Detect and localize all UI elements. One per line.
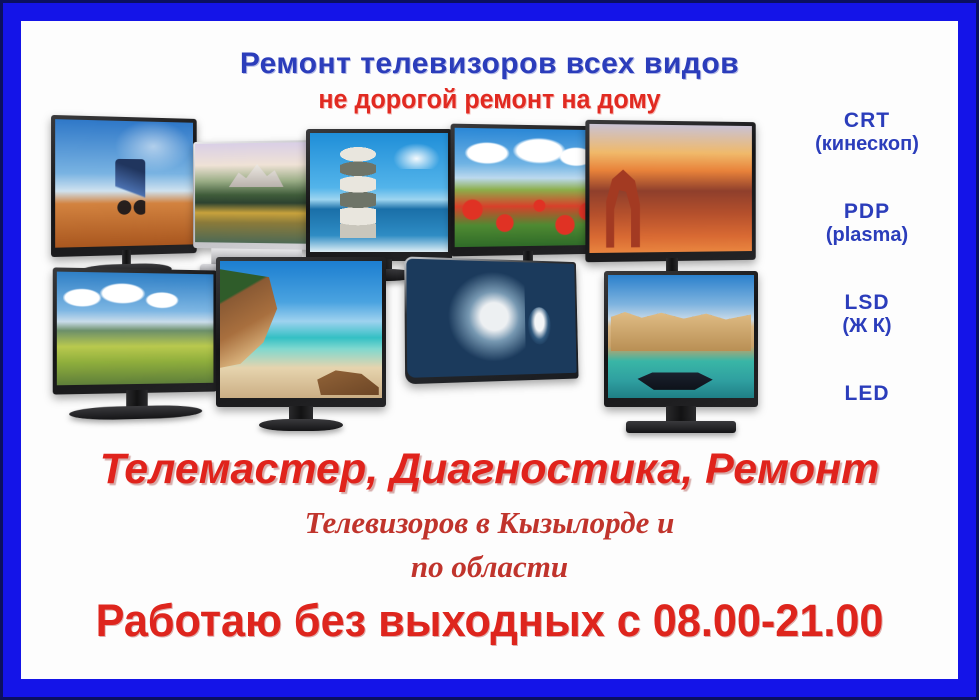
tv-field-stand	[69, 389, 202, 421]
working-hours: Работаю без выходных с 08.00-21.00	[40, 595, 940, 647]
technology-abbr-lsd: LSD	[782, 291, 952, 315]
tv-poppy-bezel	[451, 124, 603, 257]
technology-abbr-pdp: PDP	[782, 200, 952, 224]
technology-item-crt: CRT (кинескоп)	[782, 109, 952, 156]
tv-venice-stand	[626, 406, 736, 433]
technology-list: CRT (кинескоп) PDP (plasma) LSD (Ж К) LE…	[782, 109, 952, 451]
technology-note-crt: (кинескоп)	[782, 133, 952, 156]
tv-stones-bezel	[306, 129, 452, 261]
technology-abbr-led: LED	[782, 382, 952, 406]
service-area-line-1: Телевизоров в Кызылорде и	[21, 505, 958, 541]
tv-stones	[306, 129, 452, 261]
tv-poppy-screen	[455, 128, 599, 247]
tv-poppy	[451, 124, 603, 257]
tv-cyclist-bezel	[51, 115, 197, 257]
technology-item-led: LED	[782, 382, 952, 406]
tv-venice-bezel	[604, 271, 758, 407]
tv-beach	[216, 257, 386, 407]
tv-cyclist-screen	[55, 119, 193, 248]
services-headline: Телемастер, Диагностика, Ремонт	[21, 445, 958, 494]
tv-venice	[604, 271, 758, 407]
tv-wave-bezel	[404, 256, 578, 384]
tv-field	[53, 267, 217, 394]
technology-item-lsd: LSD (Ж К)	[782, 291, 952, 338]
technology-note-lsd: (Ж К)	[782, 315, 952, 338]
tv-mountain	[193, 140, 321, 250]
tv-arch-screen	[589, 124, 751, 253]
technology-note-pdp: (plasma)	[782, 224, 952, 247]
tv-arch	[585, 120, 755, 262]
tv-beach-stand	[259, 406, 343, 431]
tv-mountain-bezel	[193, 140, 321, 250]
service-area-line-2: по области	[21, 549, 958, 585]
tv-arch-bezel	[585, 120, 755, 262]
headline-primary: Ремонт телевизоров всех видов	[21, 47, 958, 81]
poster-canvas: Ремонт телевизоров всех видов не дорогой…	[21, 21, 958, 679]
tv-mountain-screen	[195, 142, 319, 244]
tv-stones-screen	[310, 133, 448, 252]
tv-field-bezel	[53, 267, 217, 394]
technology-item-pdp: PDP (plasma)	[782, 200, 952, 247]
tv-cyclist	[51, 115, 197, 257]
tv-wave-screen	[406, 259, 576, 378]
tv-wave	[404, 256, 578, 384]
tv-beach-bezel	[216, 257, 386, 407]
technology-abbr-crt: CRT	[782, 109, 952, 133]
advertisement-poster: Ремонт телевизоров всех видов не дорогой…	[0, 0, 979, 700]
tv-field-screen	[57, 272, 214, 386]
tv-beach-screen	[220, 261, 382, 398]
tv-venice-screen	[608, 275, 754, 398]
